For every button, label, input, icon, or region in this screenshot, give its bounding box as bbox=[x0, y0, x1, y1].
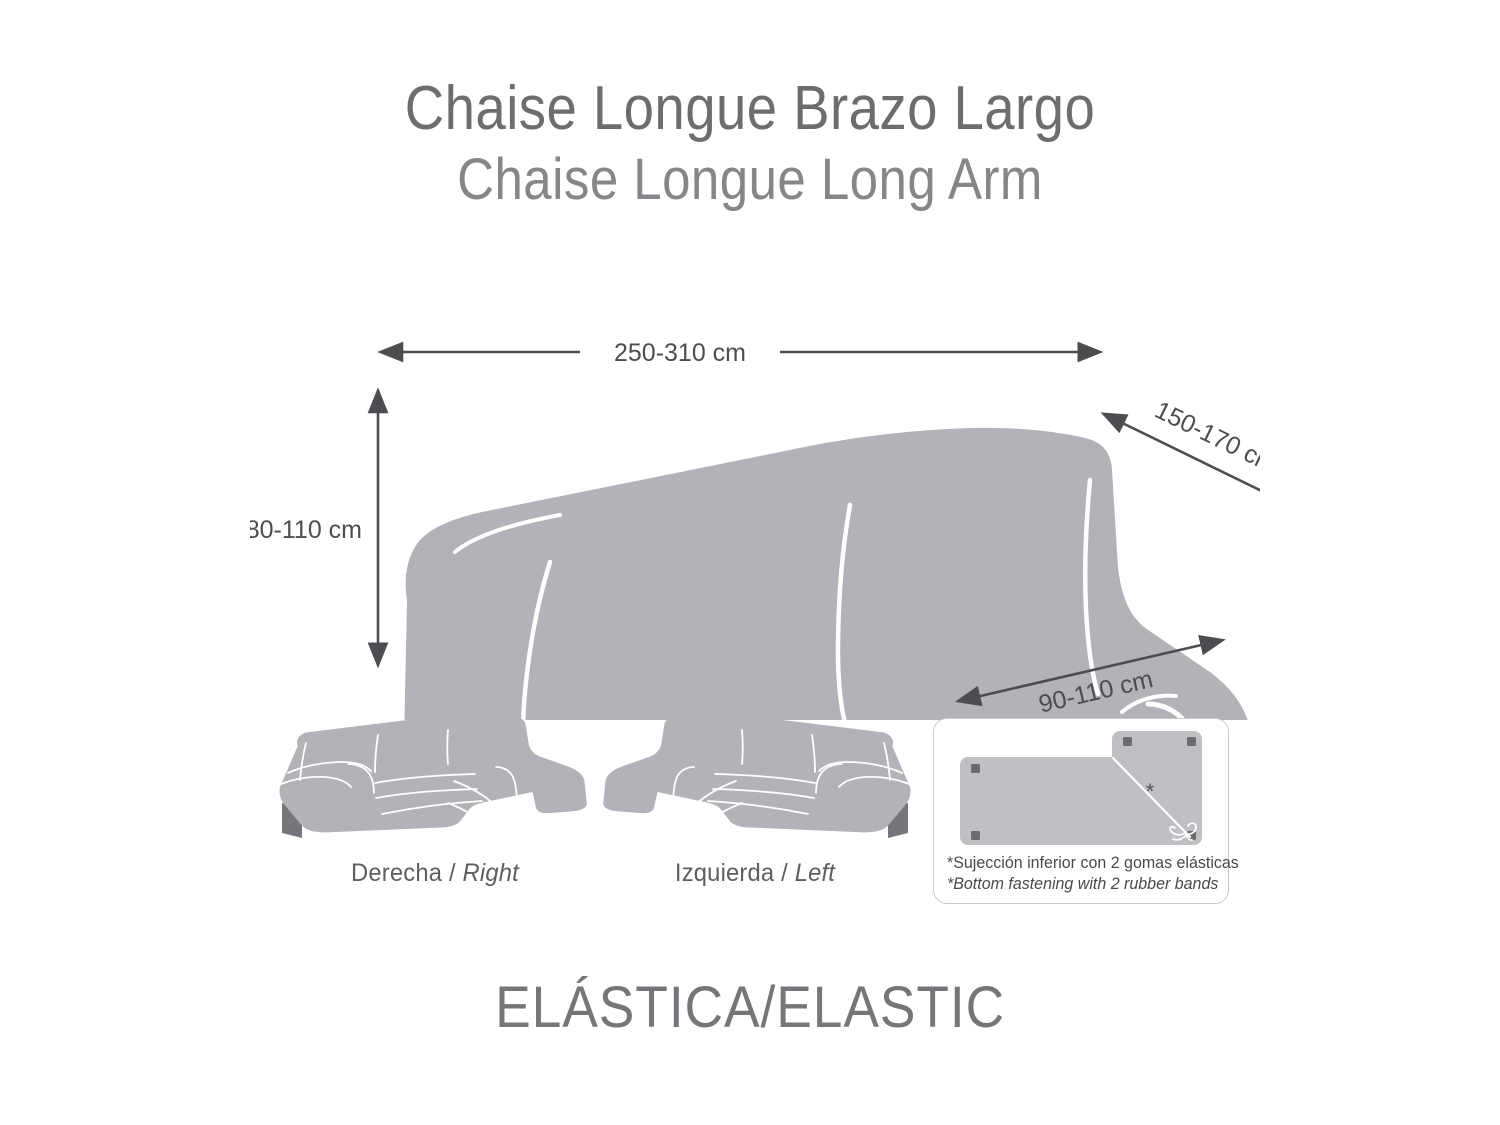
variant-row: Derecha / Right bbox=[0, 715, 1500, 915]
title-english: Chaise Longue Long Arm bbox=[90, 146, 1410, 214]
dimension-height-label: 80-110 cm bbox=[250, 516, 362, 544]
footprint-shape bbox=[960, 731, 1202, 845]
variant-right[interactable]: Derecha / Right bbox=[270, 715, 600, 905]
product-dimension-sheet: Chaise Longue Brazo Largo Chaise Longue … bbox=[0, 0, 1500, 1125]
variant-left-caption-es: Izquierda bbox=[675, 859, 774, 887]
variant-right-seam-3 bbox=[447, 730, 448, 764]
bottom-footprint-illustration: * bbox=[942, 727, 1220, 849]
variant-left-caption: Izquierda / Left bbox=[598, 859, 912, 888]
variant-left-armend-front bbox=[673, 809, 674, 844]
variant-right-caption-es: Derecha bbox=[351, 859, 442, 887]
page-title: Chaise Longue Brazo Largo Chaise Longue … bbox=[0, 72, 1500, 214]
variant-right-illustration bbox=[270, 715, 600, 850]
asterisk-marker: * bbox=[1146, 779, 1155, 804]
title-spanish: Chaise Longue Brazo Largo bbox=[90, 72, 1410, 146]
variant-left-seam-3 bbox=[742, 730, 743, 764]
elastic-label: ELÁSTICA/ELASTIC bbox=[495, 975, 1005, 1041]
footer: ELÁSTICA/ELASTIC bbox=[0, 975, 1500, 1041]
variant-right-caption: Derecha / Right bbox=[278, 859, 592, 888]
main-sofa-diagram: 250-310 cm 150-170 cm 80-110 cm 55 cm 90… bbox=[250, 300, 1260, 720]
corner-marker-bottom-left bbox=[971, 831, 980, 840]
variant-caption-separator: / bbox=[442, 859, 462, 887]
variant-left-caption-en: Left bbox=[795, 859, 835, 887]
corner-marker-top-left-upper bbox=[1123, 737, 1132, 746]
variant-left[interactable]: Izquierda / Left bbox=[590, 715, 920, 905]
variant-left-body bbox=[603, 715, 910, 832]
fastening-info-text: *Sujección inferior con 2 gomas elástica… bbox=[947, 853, 1219, 895]
variant-right-armend-front bbox=[516, 809, 517, 844]
variant-right-caption-en: Right bbox=[463, 859, 519, 887]
corner-marker-left-upper bbox=[971, 764, 980, 773]
fastening-info-box: * *Sujección inferior con 2 gomas elásti… bbox=[933, 718, 1229, 904]
dimension-depth: 150-170 cm bbox=[1123, 385, 1260, 502]
fastening-note-es: *Sujección inferior con 2 gomas elástica… bbox=[947, 853, 1211, 874]
fastening-note-en: *Bottom fastening with 2 rubber bands bbox=[947, 874, 1211, 895]
dimension-width-label: 250-310 cm bbox=[614, 339, 746, 367]
dimension-depth-label: 150-170 cm bbox=[1150, 396, 1260, 479]
variant-right-body bbox=[280, 715, 587, 832]
variant-left-illustration bbox=[590, 715, 920, 850]
corner-marker-top-right bbox=[1187, 737, 1196, 746]
variant-caption-separator: / bbox=[774, 859, 794, 887]
